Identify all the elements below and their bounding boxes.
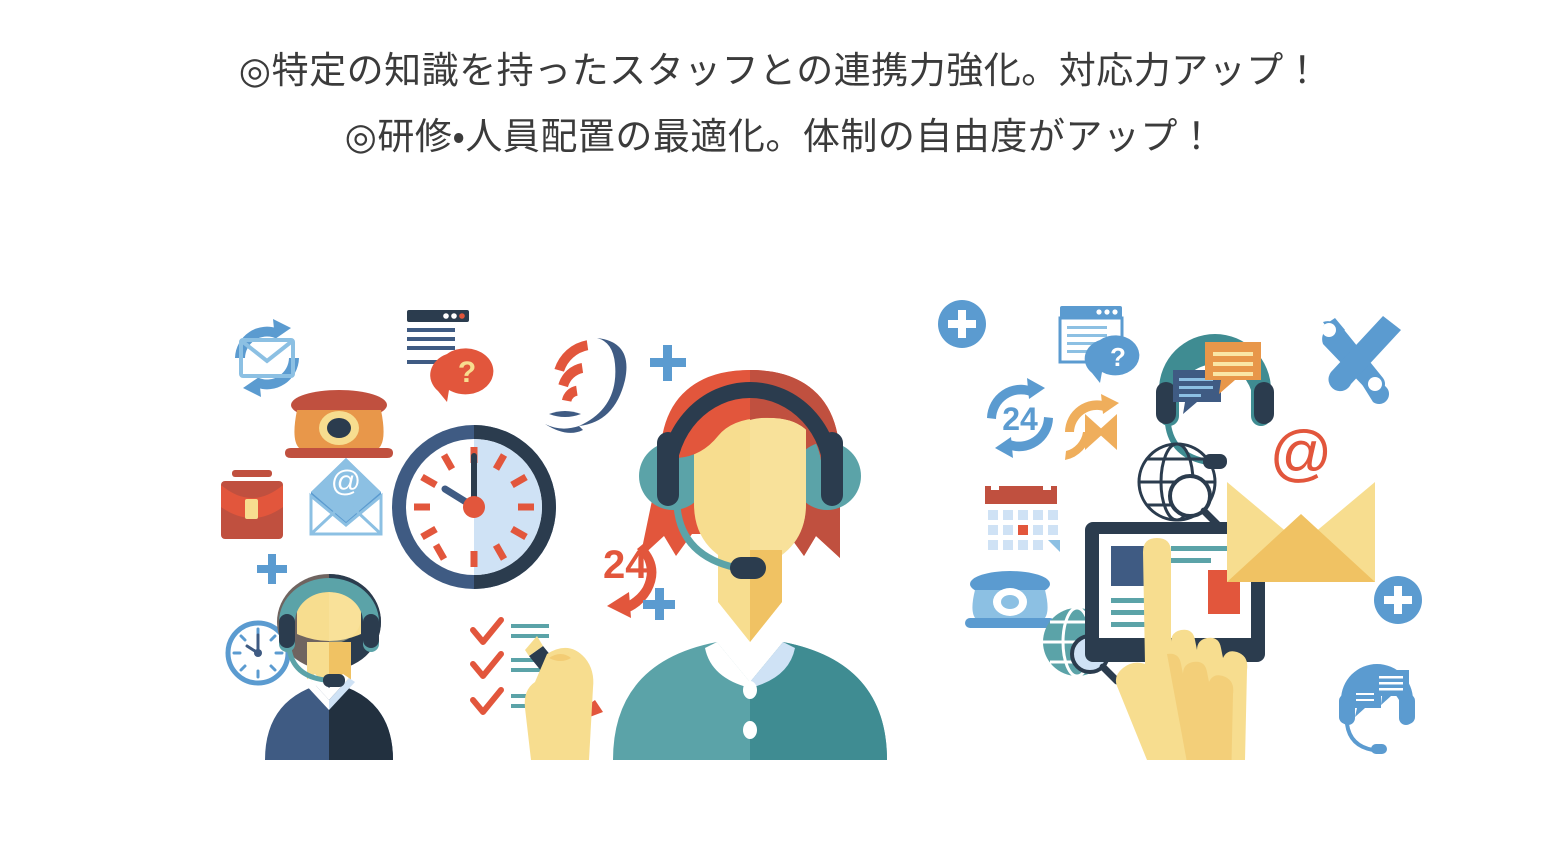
calendar-icon: [985, 482, 1060, 552]
email-sync-icon: [235, 319, 299, 397]
plus-sign-icon-mid: [650, 345, 686, 381]
at-envelope-icon: @: [311, 458, 381, 534]
svg-text:24: 24: [1002, 401, 1038, 437]
plus-sign-icon-left: [257, 554, 287, 584]
plus-circle-icon: [938, 300, 986, 348]
briefcase-icon: [221, 470, 283, 539]
plus-circle-right-icon: [1374, 576, 1422, 624]
svg-text:@: @: [331, 465, 361, 498]
page-root: ◎特定の知識を持ったスタッフとの連携力強化。対応力アップ！ ◎研修・人員配置の最…: [0, 0, 1560, 856]
headline-line-2: ◎研修・人員配置の最適化。体制の自由度がアップ！: [0, 104, 1560, 170]
mail-envelope-large-icon: @: [1227, 419, 1375, 582]
transfer-arrows-icon: [1065, 394, 1119, 460]
headset-chat-icon: [1156, 334, 1274, 469]
browser-window-help-icon: ?: [1060, 306, 1139, 383]
blue-desk-phone-icon: [965, 571, 1055, 628]
signal-phone-icon: [545, 338, 626, 433]
hero-illustration: ?: [205, 282, 1475, 760]
svg-text:?: ?: [458, 356, 476, 389]
analog-clock-large-icon: [392, 425, 556, 589]
browser-window-question-icon: ?: [407, 310, 493, 402]
checklist-hand-pencil-icon: [473, 620, 603, 760]
rotary-phone-icon: [285, 390, 393, 458]
headline-line-1: ◎特定の知識を持ったスタッフとの連携力強化。対応力アップ！: [0, 38, 1560, 104]
headset-chat-small-icon: [1339, 664, 1415, 754]
svg-text:?: ?: [1110, 342, 1126, 372]
wrench-screwdriver-icon: [1322, 316, 1401, 404]
headline-block: ◎特定の知識を持ったスタッフとの連携力強化。対応力アップ！ ◎研修・人員配置の最…: [0, 38, 1560, 170]
twentyfour-seven-cycle-icon: 24: [987, 378, 1053, 458]
svg-text:@: @: [1270, 419, 1333, 488]
